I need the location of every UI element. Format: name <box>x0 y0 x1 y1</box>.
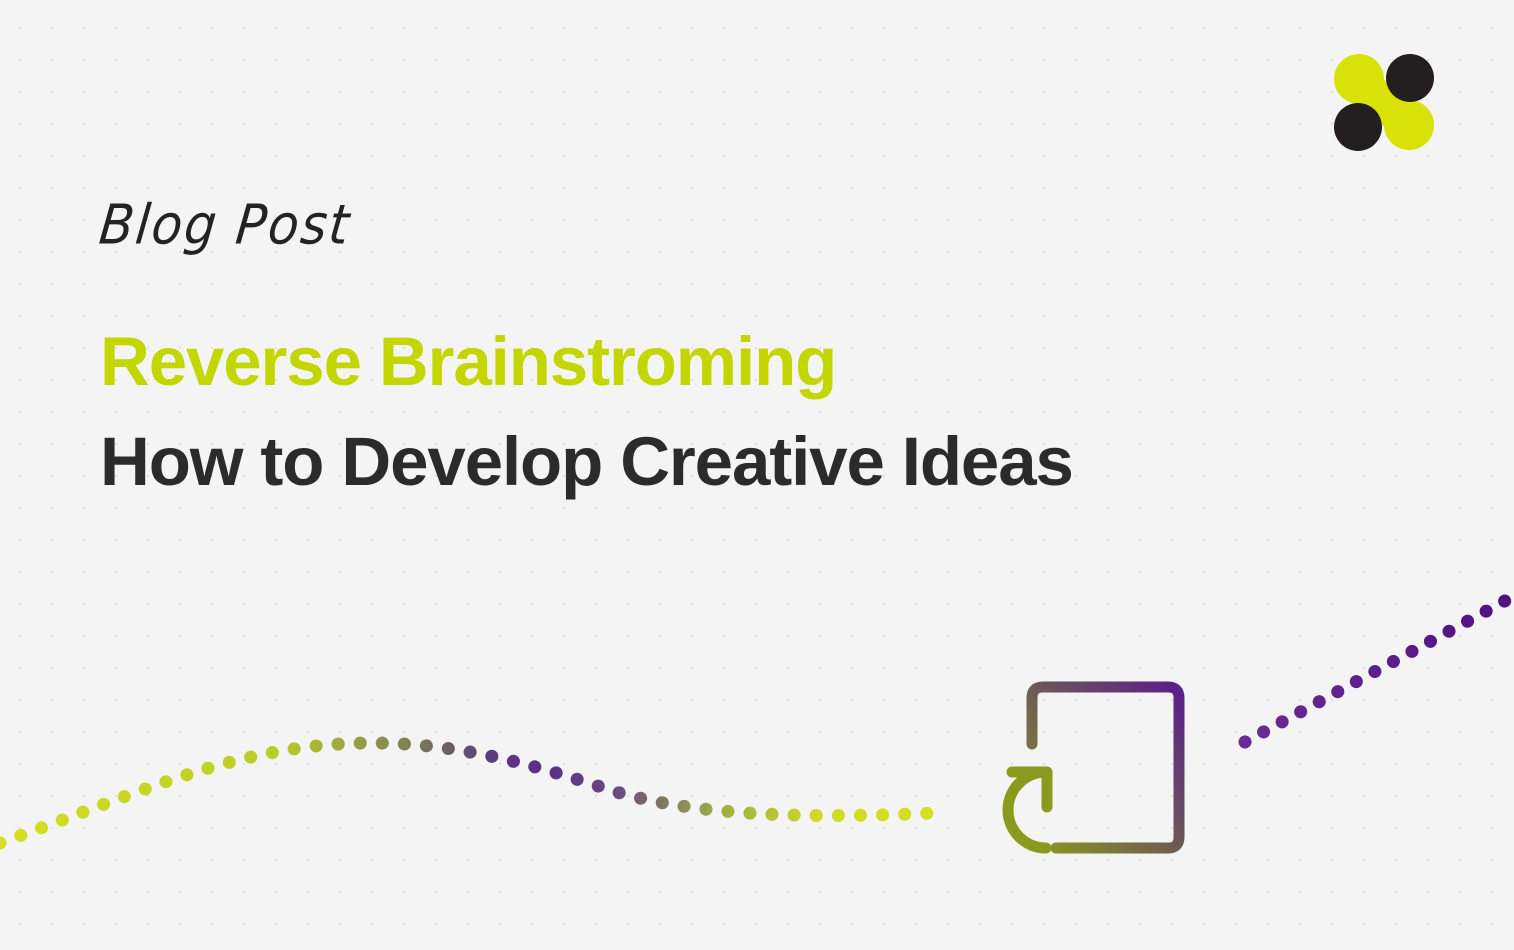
dotted-rising-line <box>1245 596 1514 742</box>
four-dot-connector-logo <box>1331 51 1435 153</box>
dotted-trend-curve <box>0 743 935 843</box>
refresh-arc <box>1008 772 1046 848</box>
page-title: Reverse Brainstroming How to Develop Cre… <box>100 312 1400 512</box>
logo-dot-top-left <box>1334 54 1384 104</box>
title-accent-line: Reverse Brainstroming <box>100 312 1400 412</box>
logo-dot-top-right <box>1386 54 1434 102</box>
document-refresh-icon <box>1000 678 1190 858</box>
logo-dot-bottom-left <box>1334 103 1382 151</box>
logo-dot-bottom-right <box>1384 100 1434 150</box>
poster-canvas: Blog Post Reverse Brainstroming How to D… <box>0 0 1514 950</box>
eyebrow-label: Blog Post <box>96 193 354 257</box>
title-main-line: How to Develop Creative Ideas <box>100 412 1400 512</box>
